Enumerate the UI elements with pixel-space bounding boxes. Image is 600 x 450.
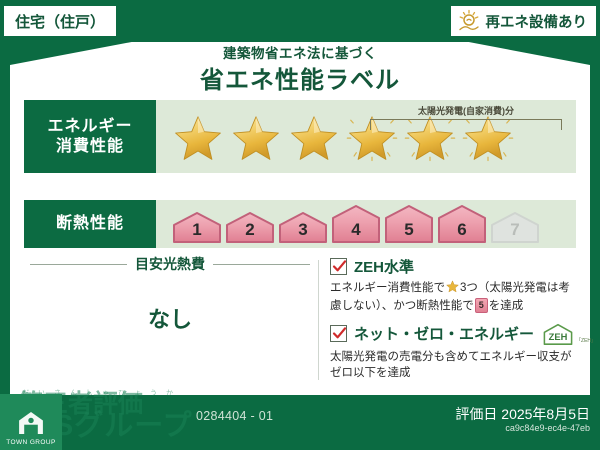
energy-performance-row: エネルギー 消費性能 [24,100,576,173]
insulation-level-number: 6 [457,220,466,240]
insulation-level-2: 2 [225,204,275,244]
insulation-performance-row: 断熱性能 1 [24,200,576,248]
vertical-divider [318,260,319,380]
insulation-level-4: 4 [331,204,381,244]
energy-performance-label: エネルギー 消費性能 [24,100,156,173]
sun-solar-icon [457,9,481,33]
insulation-level-1: 1 [172,204,222,244]
insulation-level-number: 7 [510,220,519,240]
zeh-standard-title: ZEH水準 [354,256,414,277]
rule-right [213,264,310,265]
label-subtitle: 建築物省エネ法に基づく [10,42,590,62]
insulation-label-text: 断熱性能 [56,214,124,234]
insulation-level-scale: 1 2 3 [172,204,540,244]
star-solar [344,109,400,165]
zeh-criteria-block: ZEH水準 エネルギー消費性能で3つ（太陽光発電は考慮しない）、かつ断熱性能で5… [330,256,578,388]
zeh-standard-item: ZEH水準 エネルギー消費性能で3つ（太陽光発電は考慮しない）、かつ断熱性能で5… [330,256,578,315]
zeh-trademark: 「ZEH」 [576,337,596,344]
star-filled [170,109,226,165]
insulation-performance-field: 1 2 3 [156,200,576,248]
zeh-house-icon: ZEH [541,322,575,346]
insulation-level-number: 3 [298,220,307,240]
inline-star-icon [446,284,459,296]
utility-cost-heading: 目安光熱費 [30,254,310,274]
insulation-level-badge: 5 [475,298,488,313]
svg-text:ZEH: ZEH [549,332,568,342]
evaluation-date-value: 2025年8月5日 [501,406,590,422]
energy-performance-field [156,100,576,173]
star-filled [228,109,284,165]
net-zero-energy-title: ネット・ゼロ・エネルギー [354,323,534,344]
net-zero-energy-checkbox [330,325,347,342]
star-solar [460,109,516,165]
town-group-mark [14,409,48,437]
footer-hash: ca9c84e9-ec4e-47eb [505,423,590,433]
utility-cost-block: 目安光熱費 なし [30,254,310,334]
top-bar: 住宅（住戸） 再エネ設備あり [0,0,600,42]
insulation-level-5: 5 [384,204,434,244]
zeh-desc-post: を達成 [489,300,524,312]
star-rating [170,109,516,165]
energy-label-line2: 消費性能 [56,137,124,157]
evaluation-date-label: 評価日 [455,406,497,422]
utility-cost-heading-text: 目安光熱費 [135,254,205,274]
insulation-performance-label: 断熱性能 [24,200,156,248]
building-type-badge: 住宅（住戸） [4,6,116,36]
star-solar [402,109,458,165]
star-filled [286,109,342,165]
insulation-level-3: 3 [278,204,328,244]
label-card: 建築物省エネ法に基づく 省エネ性能ラベル エネルギー 消費性能 [10,10,590,395]
insulation-level-number: 2 [245,220,254,240]
energy-label-line1: エネルギー [47,117,132,137]
footer-bar: 0284404 - 01 評価日 2025年8月5日 ca9c84e9-ec4e… [0,395,600,450]
rule-left [30,264,127,265]
footer-evaluation-date: 評価日 2025年8月5日 [455,404,590,424]
zeh-logo: ZEH 「ZEH」 [541,322,596,346]
zeh-standard-checkbox [330,258,347,275]
label-root: 住宅（住戸） 再エネ設備あり [0,0,600,450]
insulation-level-number: 4 [351,220,360,240]
utility-cost-value: なし [30,302,310,334]
town-group-logo-text: TOWN GROUP [6,439,55,446]
zeh-desc-pre: エネルギー消費性能で [330,282,445,294]
net-zero-energy-item: ネット・ゼロ・エネルギー ZEH 「ZEH」 太陽光発電の売電分も含めてエネルギ… [330,322,578,382]
footer-label-id: 0284404 - 01 [196,409,273,423]
zeh-standard-header: ZEH水準 [330,256,578,277]
net-zero-energy-header: ネット・ゼロ・エネルギー ZEH 「ZEH」 [330,322,578,346]
insulation-level-number: 1 [192,220,201,240]
building-type-label: 住宅（住戸） [15,11,105,32]
insulation-level-7: 7 [490,204,540,244]
insulation-level-number: 5 [404,220,413,240]
renewable-badge-label: 再エネ設備あり [486,11,588,32]
net-zero-energy-description: 太陽光発電の売電分も含めてエネルギー収支がゼロ以下を達成 [330,349,578,382]
label-title: 省エネ性能ラベル [10,60,590,95]
zeh-standard-description: エネルギー消費性能で3つ（太陽光発電は考慮しない）、かつ断熱性能で5を達成 [330,280,578,315]
town-group-logo: TOWN GROUP [0,394,62,450]
renewable-equipment-badge: 再エネ設備あり [451,6,597,36]
insulation-level-6: 6 [437,204,487,244]
